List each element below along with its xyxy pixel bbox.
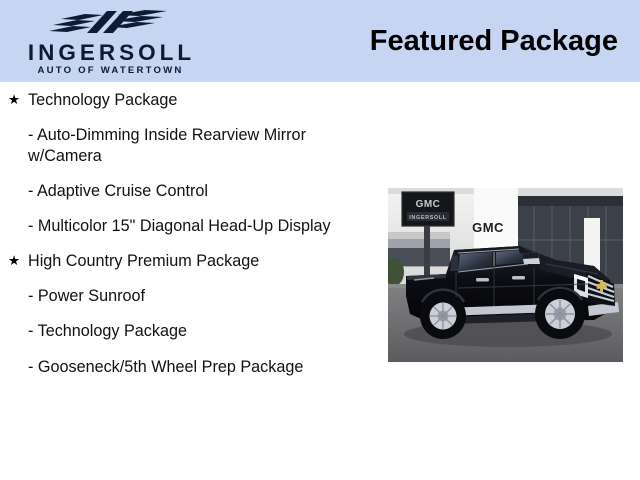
page-header: INGERSOLL AUTO OF WATERTOWN Featured Pac…	[0, 0, 640, 82]
package-feature-label: - Power Sunroof	[28, 286, 358, 307]
package-feature: - Technology Package	[0, 321, 392, 342]
package-feature: - Gooseneck/5th Wheel Prep Package	[0, 357, 392, 378]
package-feature-label: - Auto-Dimming Inside Rearview Mirror w/…	[28, 125, 358, 167]
package-feature-label: - Adaptive Cruise Control	[28, 181, 358, 202]
package-name: Technology Package	[28, 90, 392, 111]
package-feature: - Power Sunroof	[0, 286, 392, 307]
page-title: Featured Package	[370, 25, 640, 58]
package-feature-label: - Technology Package	[28, 321, 358, 342]
vehicle-photo: GMC INGERSOLL GMC	[388, 188, 623, 362]
star-bullet-icon: ★	[8, 251, 28, 272]
page-content: ★Technology Package- Auto-Dimming Inside…	[0, 82, 640, 480]
package-feature: - Adaptive Cruise Control	[0, 181, 392, 202]
dealer-branding: INGERSOLL AUTO OF WATERTOWN	[0, 5, 215, 78]
svg-text:INGERSOLL: INGERSOLL	[409, 215, 447, 221]
ingersoll-wing-logo-icon	[47, 5, 173, 41]
svg-text:GMC: GMC	[472, 220, 504, 235]
package-heading: ★High Country Premium Package	[0, 251, 392, 272]
star-bullet-icon: ★	[8, 90, 28, 111]
svg-text:GMC: GMC	[416, 199, 441, 210]
package-name: High Country Premium Package	[28, 251, 392, 272]
package-feature-label: - Gooseneck/5th Wheel Prep Package	[28, 357, 358, 378]
package-heading: ★Technology Package	[0, 90, 392, 111]
brand-tagline: AUTO OF WATERTOWN	[35, 65, 183, 77]
brand-name: INGERSOLL	[24, 42, 195, 65]
package-feature-label: - Multicolor 15" Diagonal Head-Up Displa…	[28, 216, 358, 237]
featured-package-list: ★Technology Package- Auto-Dimming Inside…	[0, 90, 392, 392]
package-feature: - Auto-Dimming Inside Rearview Mirror w/…	[0, 125, 392, 167]
package-feature: - Multicolor 15" Diagonal Head-Up Displa…	[0, 216, 392, 237]
